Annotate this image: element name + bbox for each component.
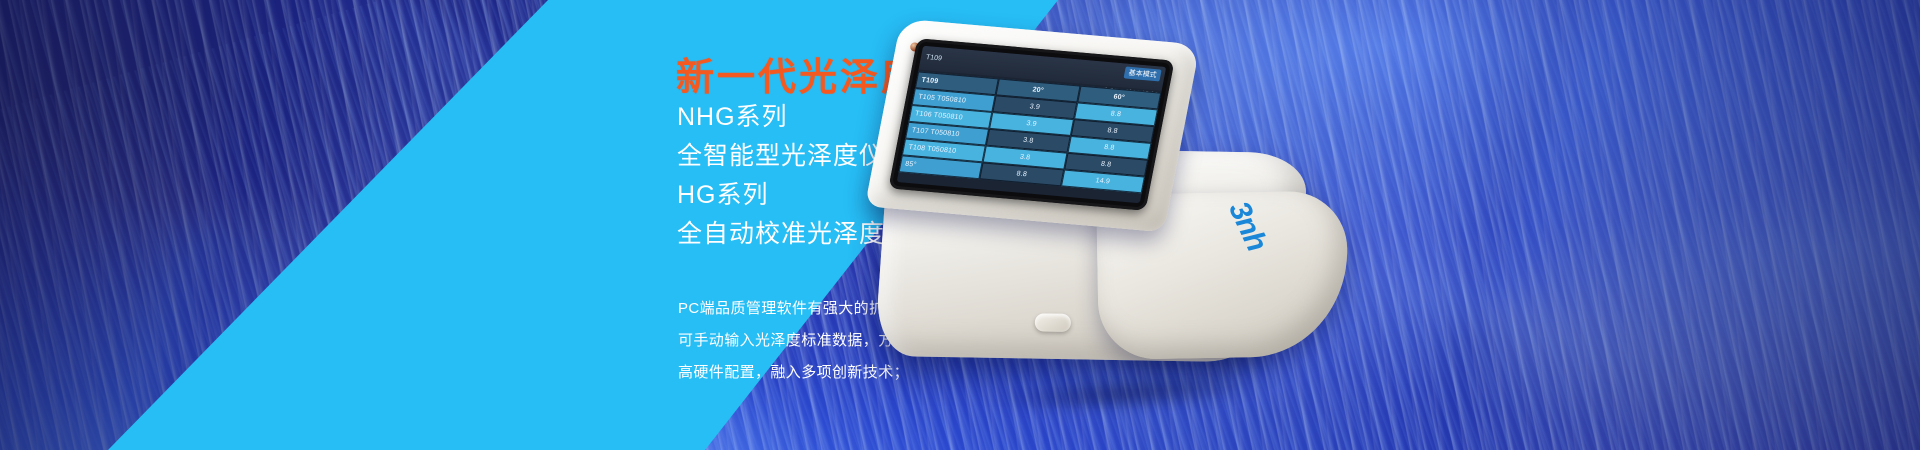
banner-subtitle-1: NHG系列 — [677, 97, 788, 133]
gloss-meter-device: 3nh T109 基本模式 10:51 2019.05.08 T109 20° … — [869, 6, 1370, 450]
banner-feature-3: 高硬件配置，融入多项创新技术； — [678, 361, 909, 382]
device-measure-button[interactable] — [1035, 313, 1071, 332]
device-screen[interactable]: T109 基本模式 10:51 2019.05.08 T109 20° 60° … — [897, 46, 1167, 203]
product-banner: 新一代光泽度仪 NHG系列 全智能型光泽度仪 HG系列 全自动校准光泽度仪 PC… — [0, 0, 1920, 450]
banner-subtitle-4: 全自动校准光泽度仪 — [677, 214, 911, 250]
device-drop-shadow — [928, 360, 1320, 428]
banner-subtitle-2: 全智能型光泽度仪 — [677, 136, 885, 172]
measurement-table: T109 20° 60° T105 T050810 3.9 8.8 T106 T… — [899, 71, 1162, 193]
device-screen-bezel: T109 基本模式 10:51 2019.05.08 T109 20° 60° … — [888, 38, 1174, 211]
banner-subtitle-3: HG系列 — [677, 175, 769, 211]
